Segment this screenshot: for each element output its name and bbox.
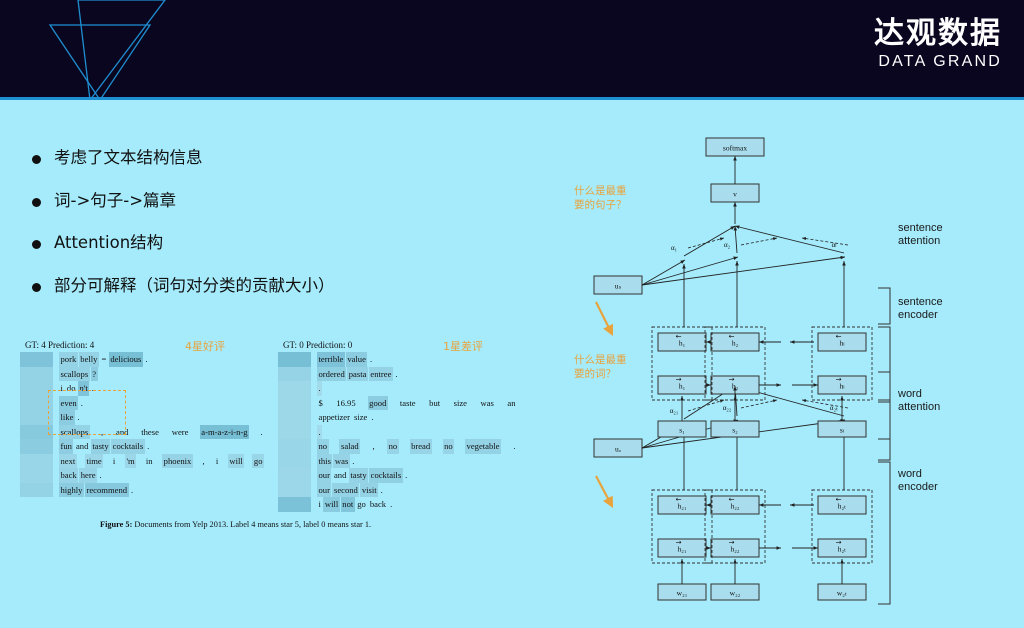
word-token: will [228,454,244,469]
word-token: tasty [349,468,368,483]
word-token: no [387,439,399,454]
document-line: iwillnotgoback. [317,497,518,512]
document-line: terriblevalue. [317,352,518,367]
annotation-arrow-icon [596,302,612,334]
document-line: like. [59,410,265,425]
token-spacer [78,454,85,469]
sentence-attention-cell [278,497,311,512]
bracket-label-line2: attention [898,401,940,414]
sentence-attention-cell [20,396,53,411]
document-lines: porkbelly=delicious.scallops?idon't.even… [53,352,265,497]
document-line: scallops,andthesewerea-m-a-z-i-n-g. [59,425,265,440]
word-token: i [317,497,322,512]
document-line: scallops? [59,367,265,382]
bracket-label-line1: sentence [898,296,943,309]
word-token: . [130,483,135,498]
token-spacer [470,396,480,411]
sentence-attention-cell [20,454,53,469]
svg-text:uₒ: uₒ [615,444,622,453]
word-token: go [252,454,264,469]
word-token: , [201,454,206,469]
figure-caption: Figure 5: Documents from Yelp 2013. Labe… [100,520,371,529]
word-token: 'm [125,454,136,469]
document-line: . [317,381,518,396]
word-token: . [404,468,409,483]
sentence-attention-cell [278,352,311,367]
bullet-text: 部分可解释（词句对分类的贡献大小） [54,276,335,297]
slide-header: 达观数据 DATA GRAND [0,0,1024,100]
sentence-attention-cell [278,439,311,454]
word-token: cocktails [111,439,145,454]
scope-bracket [878,288,890,324]
sentence-attention-cell [20,367,53,382]
word-token: scallops [59,367,90,382]
rating-annotation: 4星好评 [185,338,225,354]
word-token: next [59,454,77,469]
annotation-arrow-icon [596,476,612,506]
node-word-h-forward-1: h₂₂→ [711,539,759,557]
word-token: here [79,468,97,483]
word-token: will [323,497,339,512]
document-line: backhere. [59,468,265,483]
word-token: ? [91,367,98,382]
svg-text:s₁: s₁ [679,425,685,434]
annotation-line1: 什么是最重 [574,184,627,198]
node-softmax: softmax [706,138,764,156]
word-token: size [353,410,369,425]
token-spacer [502,439,512,454]
word-token: a-m-a-z-i-n-g [200,425,249,440]
sentence-attention-cell [278,396,311,411]
svg-text:v: v [733,189,737,198]
word-token: no [317,439,329,454]
bullet-dot-icon [32,155,41,164]
han-diagram-svg: w₂₁w₂₂w₂ₜh₂₁→h₂₂→h₂ₜ→h₂₁←h₂₂←h₂ₜ←uₒα₂₁α₂… [560,128,1024,628]
bracket-label-word-encoder: wordencoder [898,468,938,495]
svg-text:w₂₂: w₂₂ [730,588,741,597]
node-sentence-h-backward-0: h₁← [658,333,706,351]
brand-name-cn: 达观数据 [874,18,1002,50]
svg-text:w₂ₜ: w₂ₜ [837,588,847,597]
word-token: but [428,396,442,411]
svg-text:←: ← [836,496,842,504]
word-token: our [317,483,331,498]
sentence-attention-cell [20,425,53,440]
token-spacer [389,396,399,411]
sentence-attention-cell [20,468,53,483]
svg-text:s₂: s₂ [732,425,738,434]
word-token: was [333,454,349,469]
token-spacer [496,396,506,411]
node-word-input-1: w₂₂ [711,584,759,600]
node-sentence-h-backward-1: h₂← [711,333,759,351]
annotation-line1: 什么是最重 [574,353,627,367]
svg-text:→: → [676,376,682,384]
word-token: cocktails [369,468,403,483]
bullet-text: 词->句子->篇章 [54,191,176,212]
brand-name-en: DATA GRAND [874,53,1002,71]
node-sentence-input-0: s₁ [658,421,706,437]
svg-text:→: → [836,539,842,547]
word-token: back [59,468,78,483]
word-token: phoenix [162,454,193,469]
word-token: entree [369,367,393,382]
word-token: i [59,381,64,396]
node-word-h-forward-2: h₂ₜ→ [818,539,866,557]
token-spacer [433,439,443,454]
node-sentence-h-forward-0: h₁→ [658,376,706,394]
word-token: delicious [109,352,143,367]
word-token: bread [410,439,432,454]
word-token: this [317,454,332,469]
label-sentence-alpha-0: α₁ [671,244,677,252]
document-line: funandtastycocktails. [59,439,265,454]
token-spacer [191,425,200,440]
word-token: and [74,439,89,454]
word-token: was [479,396,495,411]
sentence-attention-cell [20,352,53,367]
bullet-item-1: 词->句子->篇章 [32,191,502,212]
document-line: ourandtastycocktails. [317,468,518,483]
word-token: . [379,483,384,498]
word-token: . [79,396,84,411]
word-token: . [394,367,399,382]
document-lines: terriblevalue.orderedpastaentree..$16.95… [311,352,518,512]
token-spacer [155,454,162,469]
bracket-label-sentence-attention: sentenceattention [898,222,943,249]
document-line: porkbelly=delicious. [59,352,265,367]
svg-text:sₗ: sₗ [840,425,844,434]
bracket-label-line1: word [898,468,938,481]
word-token: = [100,352,108,367]
token-spacer [377,439,387,454]
token-spacer [207,454,214,469]
word-token: time [85,454,103,469]
word-token: terrible [317,352,345,367]
word-token: visit [360,483,378,498]
sentence-attention-bar [20,352,53,497]
bracket-label-line1: sentence [898,222,943,235]
document-line: nexttimei'minphoenix,iwillgo [59,454,265,469]
token-spacer [418,396,428,411]
svg-text:←: ← [676,496,682,504]
word-token: . [368,352,373,367]
scope-bracket [878,327,890,439]
document-line: orderedpastaentree. [317,367,518,382]
figure-caption-label: Figure 5: [100,520,132,529]
token-spacer [245,454,252,469]
bracket-label-word-attention: wordattention [898,388,940,415]
word-token: . [146,439,151,454]
word-token: do [65,381,77,396]
paper-figure: GT: 4 Prediction: 4porkbelly=delicious.s… [20,340,520,536]
bullet-dot-icon [32,240,41,249]
document-body: terriblevalue.orderedpastaentree..$16.95… [278,352,518,512]
node-sentence-h-backward-2: hₗ← [818,333,866,351]
label-sentence-alpha-1: α₂ [724,241,731,249]
sentence-attention-cell [278,483,311,498]
bullet-item-3: 部分可解释（词句对分类的贡献大小） [32,276,502,297]
node-word-input-2: w₂ₜ [818,584,866,600]
token-spacer [131,425,140,440]
word-token: . [76,410,81,425]
svg-text:→: → [676,539,682,547]
word-token: an [506,396,517,411]
word-token: highly [59,483,84,498]
word-token: . [389,497,394,512]
word-token: i [214,454,219,469]
label-sentence-alpha-2: αₗ [832,241,837,249]
word-token: . [317,381,322,396]
word-token: appetizer [317,410,352,425]
word-token: good [368,396,388,411]
bracket-label-line2: attention [898,235,943,248]
word-token: not [341,497,355,512]
scope-bracket [878,372,890,400]
sentence-attention-cell [278,381,311,396]
node-v: v [711,184,759,202]
word-token: like [59,410,75,425]
bracket-label-line1: word [898,388,940,401]
word-token: go [356,497,368,512]
bullet-text: 考虑了文本结构信息 [54,148,203,169]
document-line: . [317,425,518,440]
word-token: tasty [91,439,110,454]
sentence-attention-cell [278,410,311,425]
bracket-label-line2: encoder [898,481,938,494]
token-spacer [104,454,111,469]
header-divider [0,97,1024,100]
svg-text:uₛ: uₛ [615,281,622,290]
word-token: . [90,381,95,396]
token-spacer [106,425,115,440]
svg-text:←: ← [729,496,735,504]
label-word-alpha-1: α₂₂ [723,404,732,412]
document-left: GT: 4 Prediction: 4porkbelly=delicious.s… [20,340,265,497]
document-right: GT: 0 Prediction: 0terriblevalue.ordered… [278,340,518,512]
node-word-h-forward-0: h₂₁→ [658,539,706,557]
word-token: . [259,425,264,440]
bullet-text: Attention结构 [54,233,163,254]
sentence-attention-cell [20,410,53,425]
word-token: no [443,439,455,454]
word-token: pork [59,352,78,367]
node-sentence-input-2: sₗ [818,421,866,437]
bullet-item-0: 考虑了文本结构信息 [32,148,502,169]
word-token: these [140,425,161,440]
node-u-word: uₒ [594,439,642,457]
node-sentence-h-forward-2: hₗ→ [818,376,866,394]
word-token: . [351,454,356,469]
word-token: . [370,410,375,425]
triangle-logo-icon [30,0,260,100]
bracket-label-sentence-encoder: sentenceencoder [898,296,943,323]
node-word-input-0: w₂₁ [658,584,706,600]
word-token: salad [339,439,360,454]
token-spacer [91,425,100,440]
token-spacer [118,454,125,469]
svg-text:→: → [836,376,842,384]
label-word-alpha-0: α₂₁ [670,407,679,415]
sentence-attention-cell [278,425,311,440]
svg-text:w₂₁: w₂₁ [677,588,688,597]
word-token: . [98,468,103,483]
bullet-dot-icon [32,283,41,292]
han-architecture-diagram: w₂₁w₂₂w₂ₜh₂₁→h₂₂→h₂ₜ→h₂₁←h₂₂←h₂ₜ←uₒα₂₁α₂… [560,128,1024,538]
token-spacer [361,439,371,454]
word-token: , [371,439,376,454]
rating-annotation: 1星差评 [443,338,483,354]
scope-bracket [878,462,890,604]
node-word-h-backward-1: h₂₂← [711,496,759,514]
document-line: thiswas. [317,454,518,469]
document-line: nosalad,nobreadnovegetable. [317,439,518,454]
sentence-attention-cell [20,381,53,396]
bullet-item-2: Attention结构 [32,233,502,254]
word-token: back [368,497,387,512]
word-token: our [317,468,331,483]
word-token: , [100,425,105,440]
sentence-attention-cell [278,468,311,483]
word-token: 16.95 [335,396,357,411]
token-spacer [455,439,465,454]
svg-text:→: → [729,376,735,384]
annotation-word-question: 什么是最重要的词？ [574,353,627,381]
token-spacer [161,425,170,440]
annotation-line2: 要的句子？ [574,198,627,212]
word-token: n't [78,381,89,396]
token-spacer [325,396,335,411]
word-token: fun [59,439,73,454]
document-line: $16.95goodtastebutsizewasan [317,396,518,411]
token-spacer [194,454,201,469]
document-line: highlyrecommend. [59,483,265,498]
document-header: GT: 4 Prediction: 4 [25,340,265,350]
token-spacer [221,454,228,469]
word-token: scallops [59,425,90,440]
sentence-attention-cell [20,483,53,498]
document-line: appetizersize. [317,410,518,425]
word-token: were [170,425,190,440]
word-token: even [59,396,78,411]
svg-text:softmax: softmax [723,143,747,152]
token-spacer [137,454,144,469]
bullet-list: 考虑了文本结构信息词->句子->篇章Attention结构部分可解释（词句对分类… [32,148,502,319]
node-u-sentence: uₛ [594,276,642,294]
word-token: pasta [347,367,368,382]
word-token: in [144,454,154,469]
token-spacer [358,396,368,411]
svg-text:←: ← [676,333,682,341]
word-token: size [452,396,468,411]
token-spacer [330,439,340,454]
sentence-attention-bar [278,352,311,512]
word-token: $ [317,396,324,411]
svg-text:←: ← [836,333,842,341]
node-word-h-backward-0: h₂₁← [658,496,706,514]
svg-text:→: → [729,539,735,547]
document-line: idon't. [59,381,265,396]
word-token: taste [398,396,417,411]
token-spacer [400,439,410,454]
token-spacer [250,425,259,440]
word-token: . [512,439,517,454]
annotation-line2: 要的词？ [574,367,627,381]
scope-bracket [878,400,890,460]
sentence-attention-cell [278,454,311,469]
document-body: porkbelly=delicious.scallops?idon't.even… [20,352,265,497]
word-token: recommend [85,483,129,498]
word-token: . [144,352,149,367]
bracket-label-line2: encoder [898,309,943,322]
word-token: ordered [317,367,346,382]
word-token: second [332,483,359,498]
sentence-attention-cell [278,367,311,382]
document-line: oursecondvisit. [317,483,518,498]
node-word-h-backward-2: h₂ₜ← [818,496,866,514]
sentence-attention-cell [20,439,53,454]
word-token: i [111,454,116,469]
node-sentence-input-1: s₂ [711,421,759,437]
word-token: value [346,352,368,367]
figure-caption-text: Documents from Yelp 2013. Label 4 means … [132,520,371,529]
bullet-dot-icon [32,198,41,207]
word-token: vegetable [465,439,501,454]
word-token: and [332,468,347,483]
word-token: and [115,425,130,440]
document-line: even. [59,396,265,411]
word-token: belly [79,352,99,367]
token-spacer [443,396,453,411]
word-token: . [317,425,322,440]
brand-logo: 达观数据 DATA GRAND [874,18,1002,71]
svg-text:←: ← [729,333,735,341]
annotation-sentence-question: 什么是最重要的句子？ [574,184,627,212]
